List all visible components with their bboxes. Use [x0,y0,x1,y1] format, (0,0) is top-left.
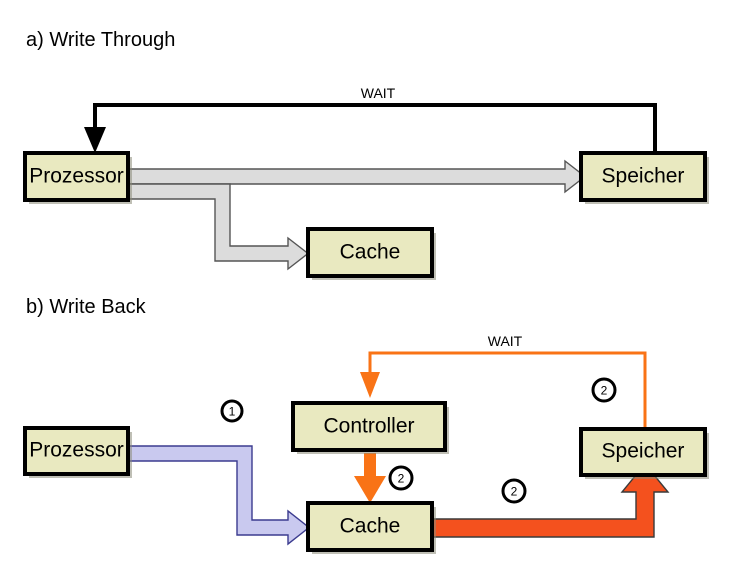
section-write-back: b) Write Back WAIT Prozessor [25,296,709,554]
box-controller: Controller [293,403,449,454]
step-marker-2-wait: 2 [593,379,615,401]
step-marker-2-controller: 2 [390,467,412,489]
step-marker-1-label: 1 [229,405,236,419]
wait-arrowhead-b [360,372,380,398]
memory-a-label: Speicher [602,165,685,188]
box-memory-a: Speicher [581,153,709,204]
step-marker-2-controller-label: 2 [398,472,405,486]
box-processor-a: Prozessor [25,153,132,204]
box-cache-b: Cache [308,503,436,554]
step-marker-2-bus-label: 2 [511,485,518,499]
wait-label-a: WAIT [361,85,396,101]
section-write-through: a) Write Through WAIT Prozessor Cache [25,29,709,280]
section-a-title: a) Write Through [26,29,175,51]
edge-wait-through: WAIT [84,85,655,153]
wait-arrowhead [84,127,106,153]
gray-band-to-cache [128,184,308,269]
edge-processor-to-cache-back [128,446,309,544]
box-processor-b: Prozessor [25,428,132,478]
step-marker-2-wait-label: 2 [601,384,608,398]
lavender-band-to-cache [128,446,309,544]
processor-a-label: Prozessor [29,165,124,188]
wait-line-path [95,105,655,153]
box-cache-a: Cache [308,229,436,280]
wait-label-b: WAIT [488,333,523,349]
cache-a-label: Cache [340,241,401,264]
diagram-root: a) Write Through WAIT Prozessor Cache [0,0,751,580]
step-marker-2-bus: 2 [503,480,525,502]
controller-label: Controller [323,415,414,438]
processor-b-label: Prozessor [29,439,124,462]
cache-b-label: Cache [340,515,401,538]
controller-cache-arrowhead [354,476,386,503]
memory-b-label: Speicher [602,440,685,463]
edge-controller-to-cache [354,453,386,503]
step-marker-1: 1 [222,401,242,421]
cache-write-policy-diagram: a) Write Through WAIT Prozessor Cache [0,0,751,580]
section-b-title: b) Write Back [26,296,147,318]
box-memory-b: Speicher [581,429,709,479]
edge-processor-to-cache-through [128,184,308,269]
